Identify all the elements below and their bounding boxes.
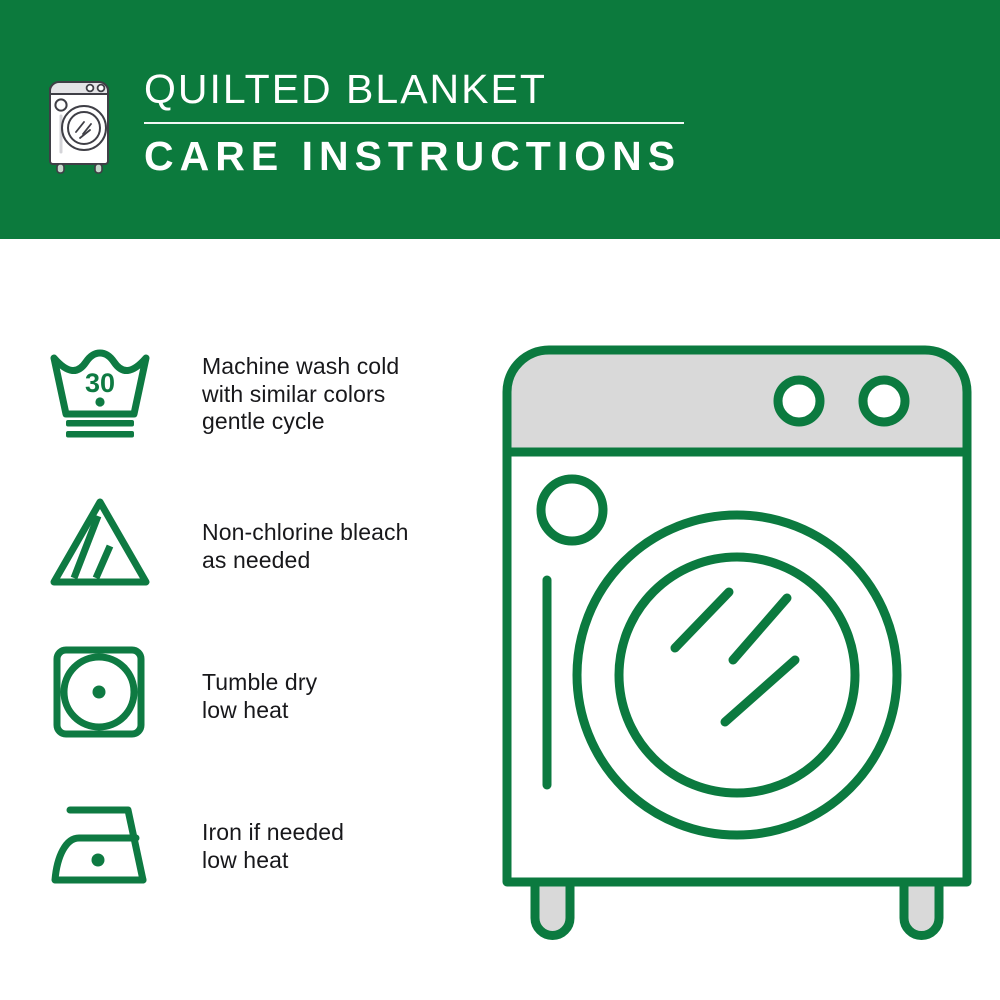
care-line: with similar colors <box>202 381 399 409</box>
control-knob-left[interactable] <box>778 380 820 422</box>
leg-left <box>535 882 570 935</box>
iron-low-heat-icon <box>48 790 160 894</box>
bleach-triangle-non-chlorine-icon <box>48 490 160 594</box>
care-line: as needed <box>202 547 408 575</box>
page-title: QUILTED BLANKET <box>144 66 684 112</box>
care-row-bleach: Non-chlorine bleach as needed <box>48 490 468 640</box>
care-line: low heat <box>202 697 317 725</box>
care-line: Machine wash cold <box>202 353 399 381</box>
door-inner-ring[interactable] <box>619 557 855 793</box>
care-instruction-list: 30 Machine wash cold with similar colors… <box>48 340 468 940</box>
care-instructions-infographic: QUILTED BLANKET CARE INSTRUCTIONS 30 <box>0 0 1000 1000</box>
title-divider <box>144 122 684 124</box>
header-content: QUILTED BLANKET CARE INSTRUCTIONS <box>44 64 684 179</box>
care-text-iron: Iron if needed low heat <box>202 790 344 874</box>
care-line: Iron if needed <box>202 819 344 847</box>
wash-tub-30-gentle-icon: 30 <box>48 340 160 444</box>
care-line: Tumble dry <box>202 669 317 697</box>
washing-machine-icon <box>44 68 120 176</box>
care-row-tumble-dry: Tumble dry low heat <box>48 640 468 790</box>
care-text-bleach: Non-chlorine bleach as needed <box>202 490 408 574</box>
care-text-tumble-dry: Tumble dry low heat <box>202 640 317 724</box>
wash-temperature-label: 30 <box>85 368 115 398</box>
care-line: gentle cycle <box>202 408 399 436</box>
care-line: Non-chlorine bleach <box>202 519 408 547</box>
header-title-group: QUILTED BLANKET CARE INSTRUCTIONS <box>144 64 684 179</box>
care-row-machine-wash: 30 Machine wash cold with similar colors… <box>48 340 468 490</box>
care-row-iron: Iron if needed low heat <box>48 790 468 940</box>
care-line: low heat <box>202 847 344 875</box>
tumble-dry-low-heat-icon <box>48 640 160 744</box>
care-text-machine-wash: Machine wash cold with similar colors ge… <box>202 340 399 436</box>
front-load-washing-machine-illustration <box>487 330 987 940</box>
page-subtitle: CARE INSTRUCTIONS <box>144 133 684 179</box>
detergent-dispenser-circle[interactable] <box>541 479 603 541</box>
leg-right <box>904 882 939 936</box>
control-knob-right[interactable] <box>863 380 905 422</box>
header-banner: QUILTED BLANKET CARE INSTRUCTIONS <box>0 0 1000 239</box>
